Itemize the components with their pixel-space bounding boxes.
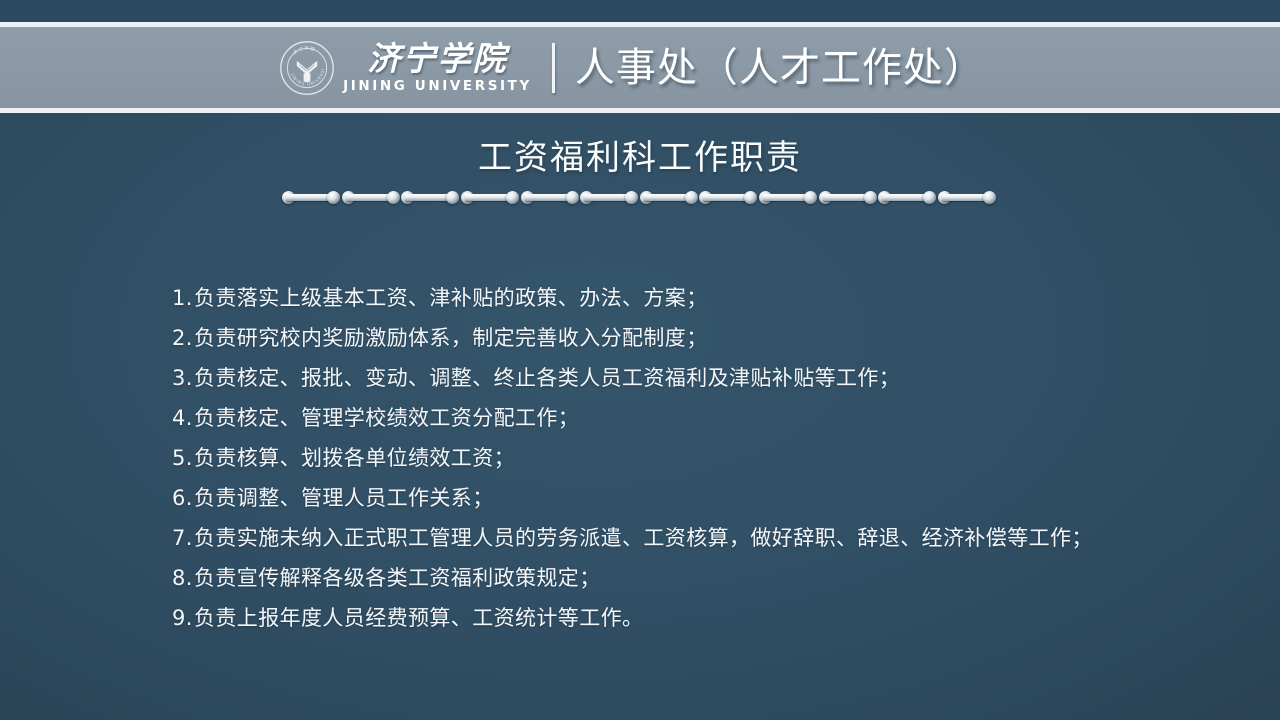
jining-university-seal-icon: 济宁学院 JINING UNIVERSITY	[279, 40, 335, 96]
list-item-number: 6.	[172, 478, 194, 518]
presentation-slide: 济宁学院 JINING UNIVERSITY 济宁学院 JINING UNIVE…	[0, 0, 1280, 720]
chain-link-icon	[580, 191, 638, 204]
list-item-number: 4.	[172, 398, 194, 438]
list-item: 7.负责实施未纳入正式职工管理人员的劳务派遣、工资核算，做好辞职、辞退、经济补偿…	[172, 518, 1232, 558]
list-item-text: 负责宣传解释各级各类工资福利政策规定；	[194, 566, 601, 590]
list-item-text: 负责核定、管理学校绩效工资分配工作；	[194, 406, 579, 430]
list-item: 5.负责核算、划拨各单位绩效工资；	[172, 438, 1232, 478]
list-item-number: 2.	[172, 318, 194, 358]
wordmark-english: JINING UNIVERSITY	[343, 78, 532, 94]
list-item-text: 负责落实上级基本工资、津补贴的政策、办法、方案；	[194, 286, 708, 310]
chain-link-icon	[461, 191, 519, 204]
list-item-text: 负责调整、管理人员工作关系；	[194, 486, 494, 510]
chain-link-icon	[819, 191, 877, 204]
list-item: 8.负责宣传解释各级各类工资福利政策规定；	[172, 558, 1232, 598]
page-title: 工资福利科工作职责	[0, 136, 1280, 180]
header-top-navy-strip	[0, 0, 1280, 22]
list-item-number: 9.	[172, 598, 194, 638]
wordmark-chinese: 济宁学院	[367, 41, 507, 77]
header-logo-lockup: 济宁学院 JINING UNIVERSITY 济宁学院 JINING UNIVE…	[0, 27, 1280, 108]
chain-link-icon	[342, 191, 400, 204]
list-item: 1.负责落实上级基本工资、津补贴的政策、办法、方案；	[172, 278, 1232, 318]
svg-text:济宁学院: 济宁学院	[292, 44, 317, 55]
chain-link-icon	[282, 191, 340, 204]
list-item: 9.负责上报年度人员经费预算、工资统计等工作。	[172, 598, 1232, 638]
list-item-text: 负责上报年度人员经费预算、工资统计等工作。	[194, 606, 643, 630]
chain-link-icon	[938, 191, 996, 204]
header-bottom-rule	[0, 108, 1280, 113]
chain-link-icon	[699, 191, 757, 204]
responsibilities-list: 1.负责落实上级基本工资、津补贴的政策、办法、方案；2.负责研究校内奖励激励体系…	[172, 278, 1232, 638]
list-item-number: 8.	[172, 558, 194, 598]
vertical-divider-icon	[552, 43, 555, 93]
chain-link-icon	[878, 191, 936, 204]
list-item-text: 负责核定、报批、变动、调整、终止各类人员工资福利及津贴补贴等工作；	[194, 366, 900, 390]
chain-link-icon	[640, 191, 698, 204]
list-item-number: 5.	[172, 438, 194, 478]
list-item-text: 负责研究校内奖励激励体系，制定完善收入分配制度；	[194, 326, 708, 350]
university-wordmark: 济宁学院 JINING UNIVERSITY	[343, 41, 532, 94]
list-item-text: 负责实施未纳入正式职工管理人员的劳务派遣、工资核算，做好辞职、辞退、经济补偿等工…	[194, 526, 1093, 550]
list-item-number: 7.	[172, 518, 194, 558]
list-item: 2.负责研究校内奖励激励体系，制定完善收入分配制度；	[172, 318, 1232, 358]
list-item: 4.负责核定、管理学校绩效工资分配工作；	[172, 398, 1232, 438]
svg-text:JINING UNIVERSITY: JINING UNIVERSITY	[279, 40, 325, 86]
list-item-number: 3.	[172, 358, 194, 398]
chain-link-icon	[401, 191, 459, 204]
list-item-number: 1.	[172, 278, 194, 318]
chain-link-icon	[521, 191, 579, 204]
chain-link-icon	[759, 191, 817, 204]
list-item: 3.负责核定、报批、变动、调整、终止各类人员工资福利及津贴补贴等工作；	[172, 358, 1232, 398]
list-item-text: 负责核算、划拨各单位绩效工资；	[194, 446, 515, 470]
chain-divider-ornament-icon	[282, 190, 996, 205]
list-item: 6.负责调整、管理人员工作关系；	[172, 478, 1232, 518]
header-department-title: 人事处（人才工作处）	[575, 45, 985, 91]
